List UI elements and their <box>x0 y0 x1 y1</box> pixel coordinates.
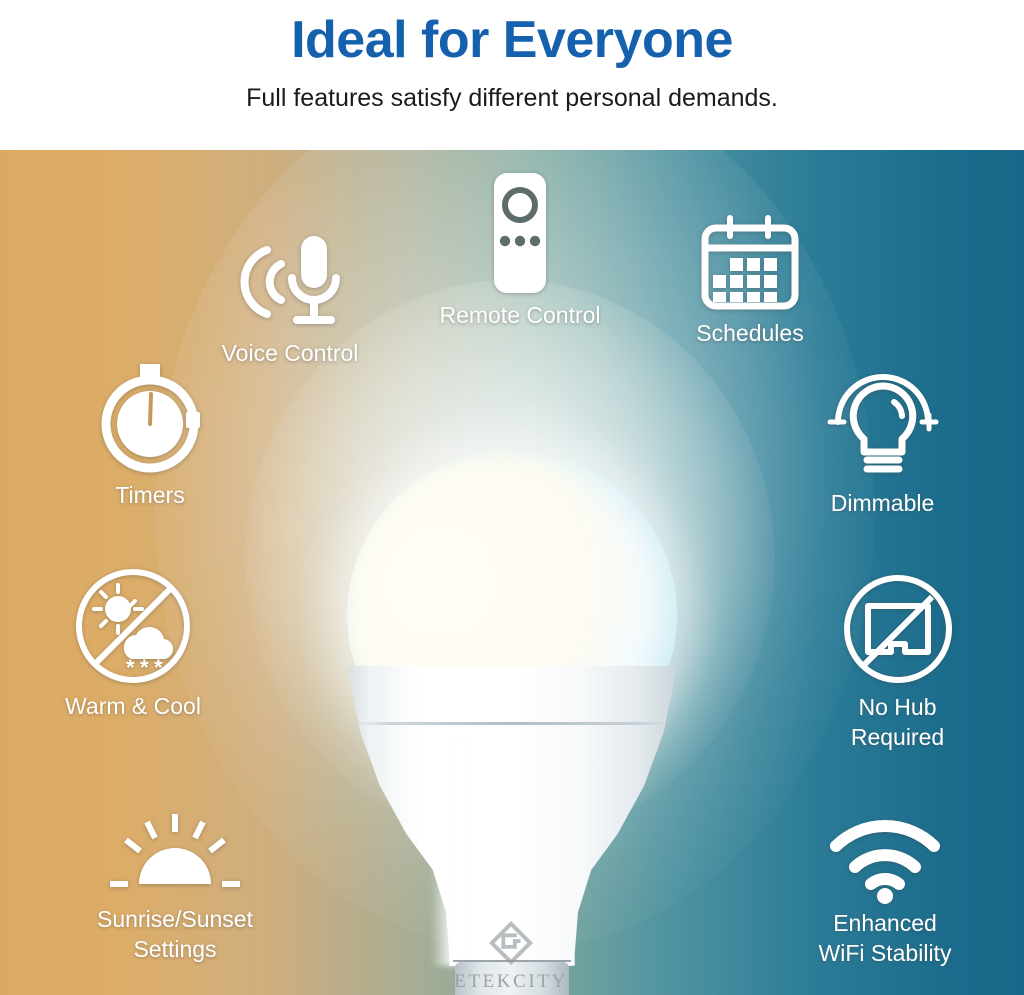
bulb-screw-base <box>455 962 569 995</box>
sun-cloud-split-icon: * * * <box>72 565 194 687</box>
feature-label: Remote Control <box>400 300 640 330</box>
bulb-highlight <box>431 736 475 966</box>
feature-timers[interactable]: Timers <box>50 360 250 510</box>
feature-label: Timers <box>50 480 250 510</box>
dimmable-bulb-icon <box>820 360 946 484</box>
feature-label: Enhanced WiFi Stability <box>760 908 1010 968</box>
remote-control-icon <box>491 170 549 296</box>
feature-remote-control[interactable]: Remote Control <box>400 170 640 330</box>
svg-text:*: * <box>154 655 163 680</box>
stopwatch-icon <box>94 360 206 476</box>
smart-bulb-product-image: ETEKCITY COOL TO WARM WHITE <box>335 450 687 995</box>
svg-text:*: * <box>126 655 135 680</box>
page-title: Ideal for Everyone <box>0 8 1024 72</box>
feature-dimmable[interactable]: Dimmable <box>775 360 990 518</box>
bulb-seam <box>353 722 671 725</box>
feature-enhanced-wifi-stability[interactable]: Enhanced WiFi Stability <box>760 810 1010 968</box>
microphone-icon <box>231 230 349 334</box>
feature-label: Sunrise/Sunset Settings <box>50 904 300 964</box>
feature-label: No Hub Required <box>790 692 1005 752</box>
feature-no-hub-required[interactable]: No Hub Required <box>790 570 1005 752</box>
bulb-body <box>347 666 677 966</box>
feature-label: Schedules <box>640 318 860 348</box>
feature-stage: ETEKCITY COOL TO WARM WHITE <box>0 150 1024 995</box>
feature-label: Dimmable <box>775 488 990 518</box>
feature-label: Warm & Cool <box>18 691 248 721</box>
feature-schedules[interactable]: Schedules <box>640 210 860 348</box>
feature-warm-and-cool[interactable]: * * * Warm & Cool <box>18 565 248 721</box>
page-subtitle: Full features satisfy different personal… <box>0 82 1024 114</box>
calendar-icon <box>696 210 804 314</box>
wifi-icon <box>822 810 948 904</box>
half-sun-icon <box>106 810 244 900</box>
svg-text:*: * <box>140 655 149 680</box>
product-feature-infographic: Ideal for Everyone Full features satisfy… <box>0 0 1024 995</box>
no-hub-icon <box>839 570 957 688</box>
feature-voice-control[interactable]: Voice Control <box>160 230 420 368</box>
feature-sunrise-sunset-settings[interactable]: Sunrise/Sunset Settings <box>50 810 300 964</box>
header-band: Ideal for Everyone Full features satisfy… <box>0 0 1024 150</box>
